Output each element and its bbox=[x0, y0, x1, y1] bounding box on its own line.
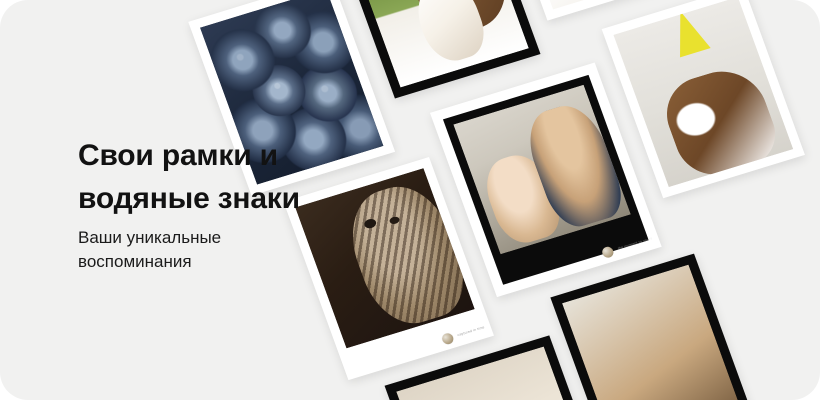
photo-card-sliver-bottom[interactable] bbox=[550, 254, 757, 400]
photo-image-dog-shepherd bbox=[348, 0, 529, 87]
photo-image-family bbox=[453, 85, 630, 254]
watermark-badge-icon bbox=[440, 332, 454, 346]
photo-card-dessert[interactable] bbox=[489, 0, 691, 21]
watermark-family: the moment to yours bbox=[489, 226, 661, 297]
watermark-badge-icon bbox=[601, 245, 615, 259]
photo-image-party-dog bbox=[613, 0, 793, 187]
watermark-text: the moment to yours bbox=[617, 236, 653, 250]
photo-image-dessert bbox=[500, 0, 679, 10]
photo-image-sliver-bottom bbox=[562, 265, 746, 400]
photo-card-family[interactable]: the moment to yours bbox=[430, 63, 662, 298]
photo-inner-frame bbox=[443, 75, 649, 285]
promo-text-block: Свои рамки и водяные знаки Ваши уникальн… bbox=[78, 134, 378, 274]
watermark-cat: captured in time bbox=[341, 315, 494, 380]
watermark-text: captured in time bbox=[457, 325, 485, 337]
photo-card-party-dog[interactable] bbox=[602, 0, 805, 198]
page-subtitle: Ваши уникальные воспоминания bbox=[78, 226, 378, 274]
page-title: Свои рамки и водяные знаки bbox=[78, 134, 378, 220]
photo-image-baby bbox=[396, 347, 597, 400]
photo-card-dog-shepherd[interactable] bbox=[336, 0, 540, 99]
photo-card-baby[interactable]: joy in the making bbox=[385, 335, 617, 400]
promo-card[interactable]: captured in time the moment to yours bbox=[0, 0, 820, 400]
